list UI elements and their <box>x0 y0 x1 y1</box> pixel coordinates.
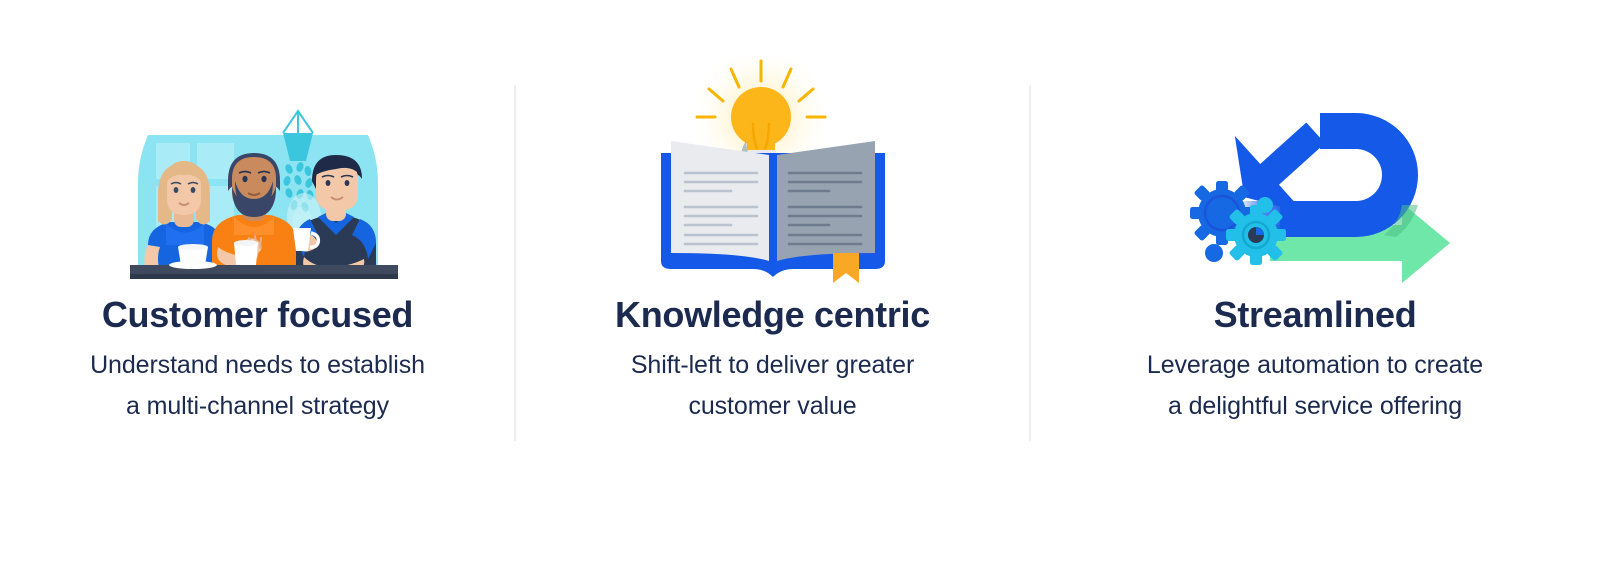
feature-description-line-2: customer value <box>688 392 856 420</box>
feature-description-line-2: a multi-channel strategy <box>126 392 389 420</box>
gear-dot-top <box>1257 197 1273 213</box>
illustration-loop-arrow-gears <box>1030 0 1600 285</box>
feature-card-streamlined: Streamlined Leverage automation to creat… <box>1030 0 1600 426</box>
feature-description-line-1: Shift-left to deliver greater <box>631 351 914 379</box>
lightbulb-glass <box>731 87 791 147</box>
column-divider <box>1029 85 1031 441</box>
feature-title: Streamlined <box>1214 297 1417 333</box>
feature-description-line-1: Leverage automation to create <box>1147 351 1483 379</box>
feature-description-line-2: a delightful service offering <box>1168 392 1462 420</box>
feature-description: Understand needs to establish a multi-ch… <box>23 345 493 426</box>
feature-card-knowledge-centric: Knowledge centric Shift-left to deliver … <box>515 0 1030 426</box>
feature-description: Leverage automation to create a delightf… <box>1080 345 1550 426</box>
feature-title: Knowledge centric <box>615 297 930 333</box>
people-at-table-icon <box>108 95 408 285</box>
illustration-people-at-table <box>0 0 515 285</box>
open-book-with-lightbulb-icon <box>643 55 903 285</box>
column-divider <box>514 85 516 441</box>
mug-on-table-center <box>234 240 258 265</box>
gear-dot-bottom <box>1205 244 1223 262</box>
gear-light <box>1226 205 1286 265</box>
illustration-open-book <box>515 0 1030 285</box>
feature-description-line-1: Understand needs to establish <box>90 351 425 379</box>
feature-title: Customer focused <box>102 297 413 333</box>
book-bookmark <box>833 253 859 283</box>
table-top <box>130 265 398 274</box>
feature-description: Shift-left to deliver greater customer v… <box>563 345 983 426</box>
feature-row: Customer focused Understand needs to est… <box>0 0 1600 460</box>
loop-arrow-gears-icon <box>1170 95 1460 285</box>
feature-card-customer-focused: Customer focused Understand needs to est… <box>0 0 515 426</box>
